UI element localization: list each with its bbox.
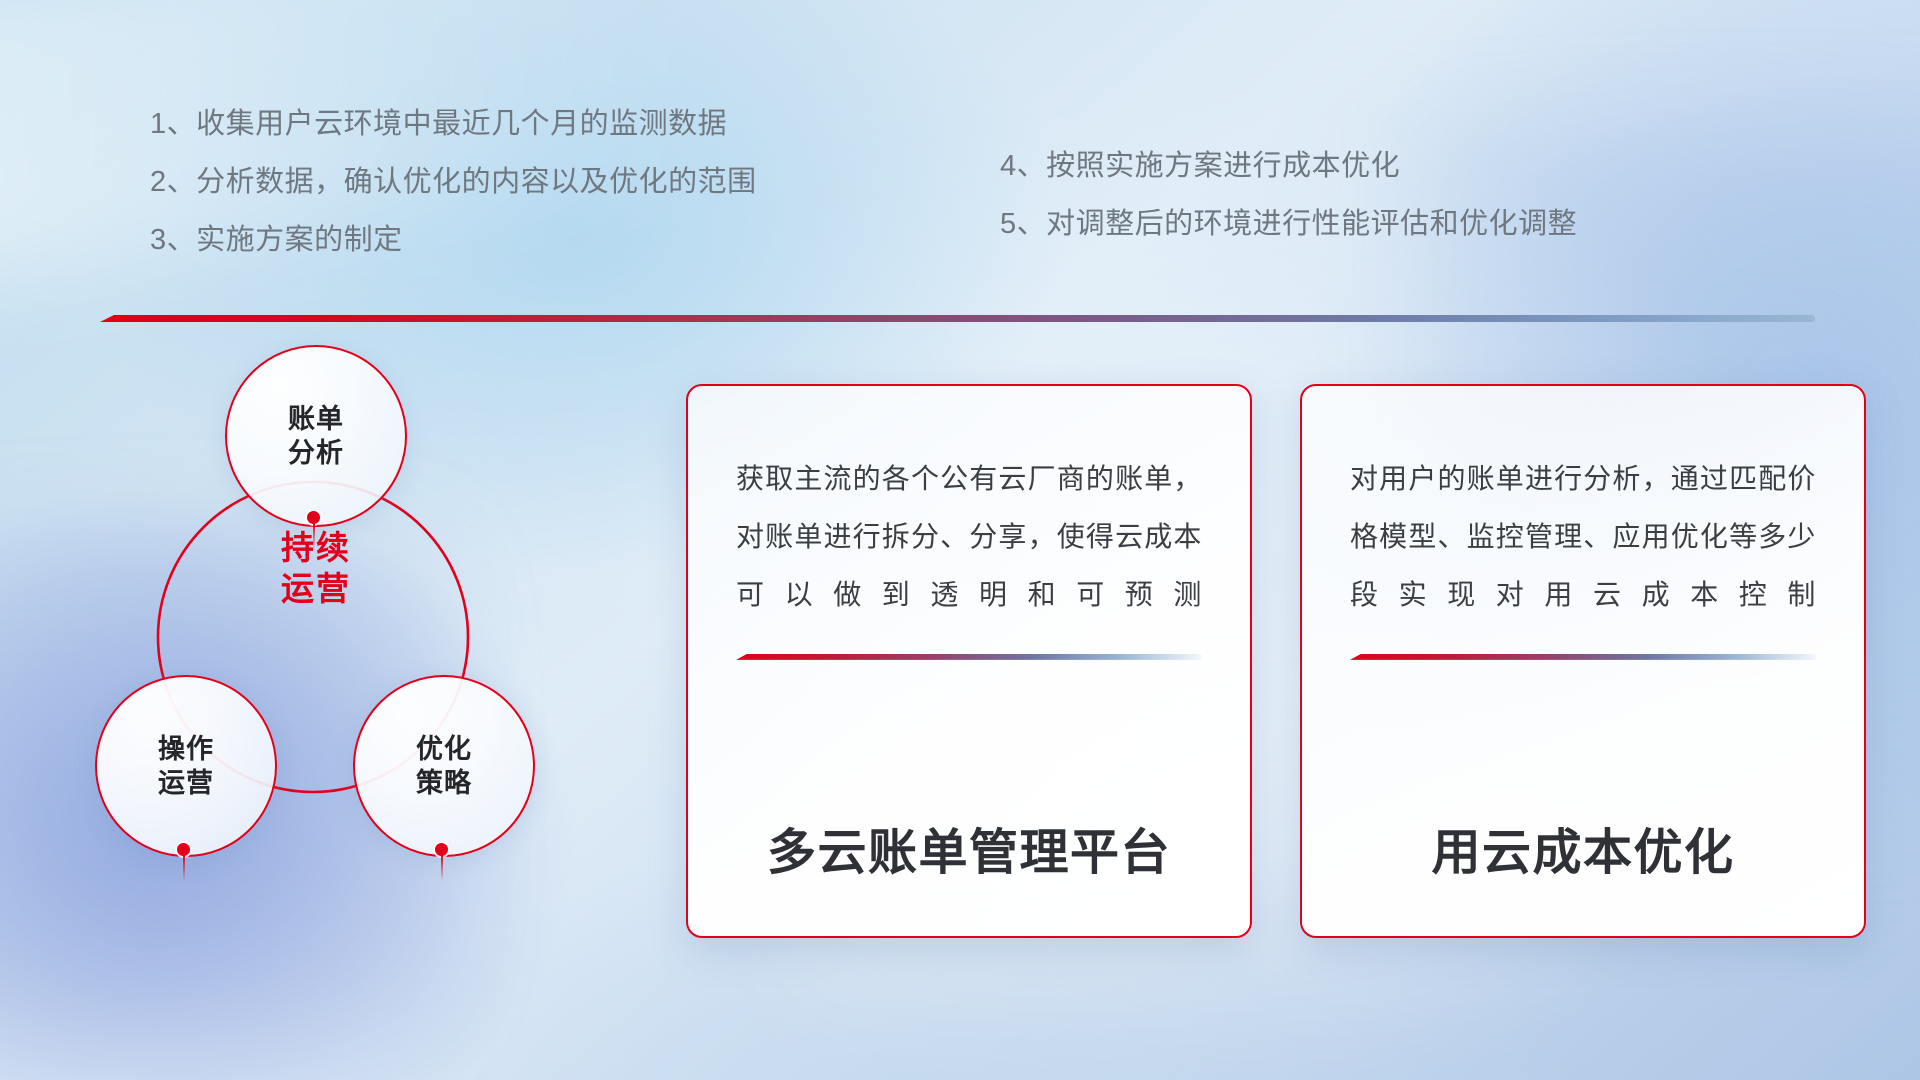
card-2-title: 用云成本优化 [1350,813,1816,884]
step-item-1: 1、收集用户云环境中最近几个月的监测数据 [150,110,757,139]
card-1-rule [736,654,1202,660]
step-item-3: 3、实施方案的制定 [150,226,757,255]
venn-node-tail-right [441,855,443,881]
card-1-title: 多云账单管理平台 [736,813,1202,884]
venn-center-label: 持续 运营 [223,527,409,610]
venn-lobe-optimization-strategy-label: 优化 策略 [416,732,472,800]
slide-canvas: 1、收集用户云环境中最近几个月的监测数据 2、分析数据，确认优化的内容以及优化的… [0,0,1920,1080]
card-multicloud-billing-platform[interactable]: 获取主流的各个公有云厂商的账单，对账单进行拆分、分享，使得云成本可以做到透明和可… [686,384,1252,938]
venn-lobe-operations-label: 操作 运营 [158,732,214,800]
steps-list-left: 1、收集用户云环境中最近几个月的监测数据 2、分析数据，确认优化的内容以及优化的… [150,110,757,284]
card-1-body: 获取主流的各个公有云厂商的账单，对账单进行拆分、分享，使得云成本可以做到透明和可… [736,450,1202,624]
venn-lobe-bill-analysis[interactable]: 账单 分析 [225,345,407,527]
step-item-2: 2、分析数据，确认优化的内容以及优化的范围 [150,168,757,197]
venn-lobe-optimization-strategy[interactable]: 优化 策略 [353,675,535,857]
venn-lobe-operations[interactable]: 操作 运营 [95,675,277,857]
card-cloud-cost-optimization[interactable]: 对用户的账单进行分析，通过匹配价格模型、监控管理、应用优化等多少段实现对用云成本… [1300,384,1866,938]
step-item-4: 4、按照实施方案进行成本优化 [1000,152,1577,181]
venn-node-tail-top [313,523,315,549]
card-2-rule [1350,654,1816,660]
card-2-body: 对用户的账单进行分析，通过匹配价格模型、监控管理、应用优化等多少段实现对用云成本… [1350,450,1816,624]
venn-node-tail-left [183,855,185,881]
continuous-operation-diagram: 账单 分析 操作 运营 优化 策略 持续 运营 [95,345,635,965]
section-divider [100,315,1815,322]
step-item-5: 5、对调整后的环境进行性能评估和优化调整 [1000,210,1577,239]
steps-list-right: 4、按照实施方案进行成本优化 5、对调整后的环境进行性能评估和优化调整 [1000,152,1577,268]
venn-lobe-bill-analysis-label: 账单 分析 [288,402,344,470]
